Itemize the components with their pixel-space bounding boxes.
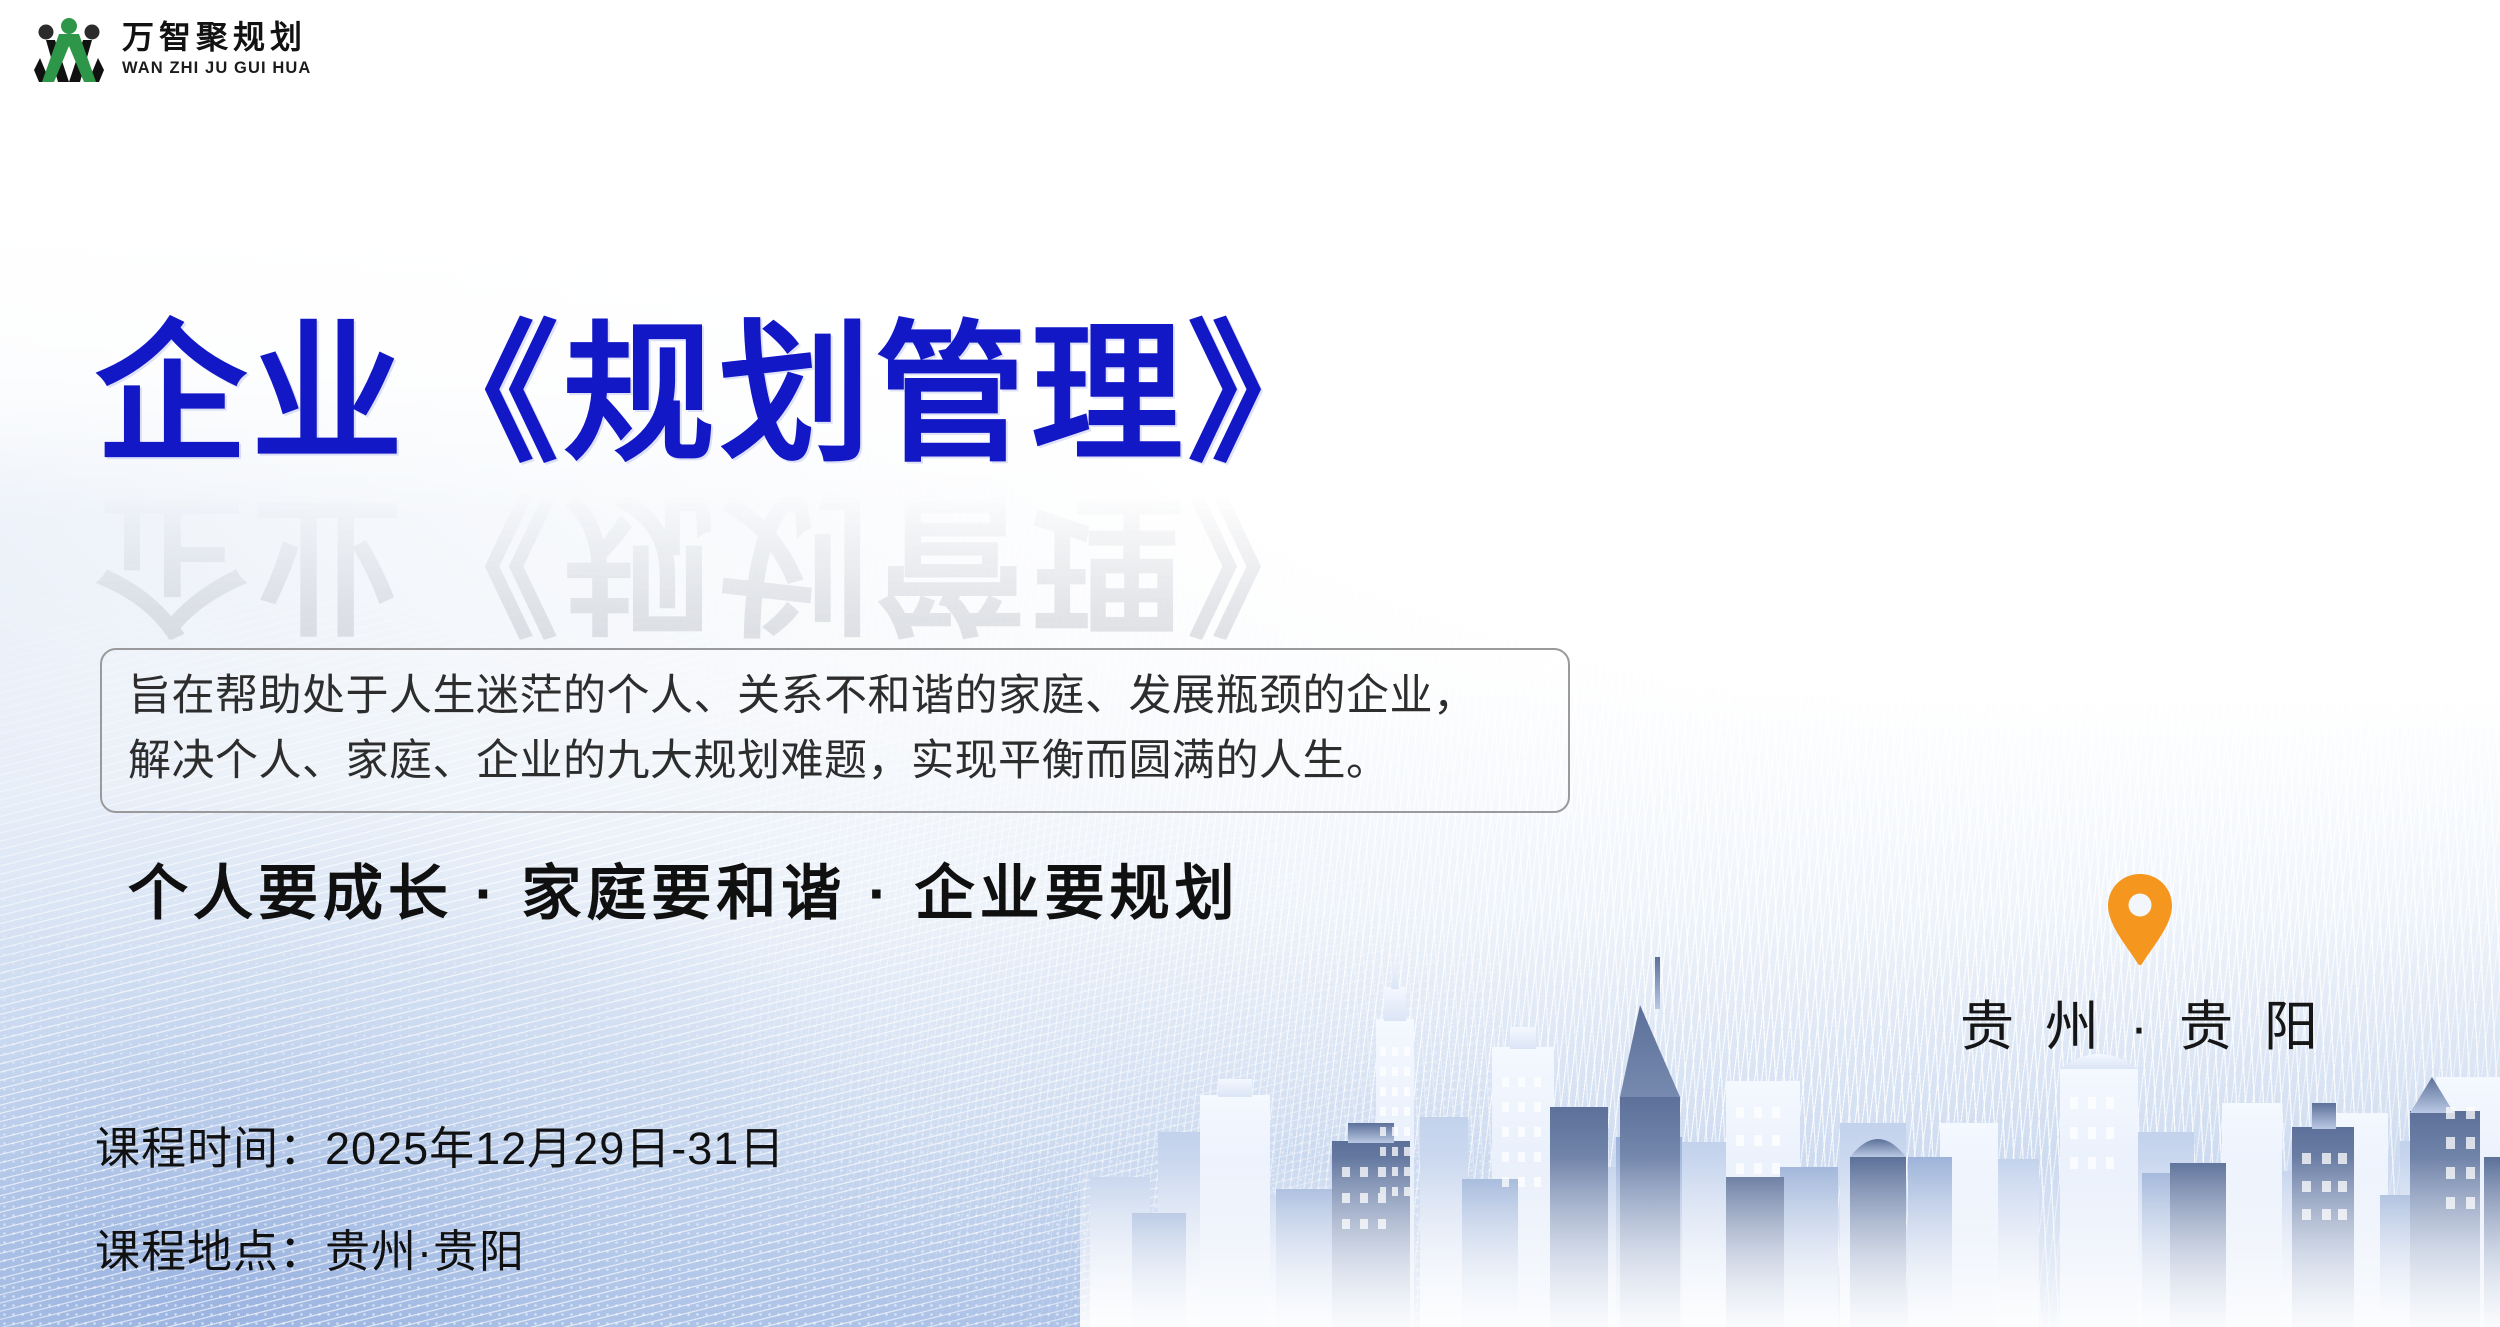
course-time-line: 课程时间：2025年12月29日-31日 bbox=[95, 1112, 785, 1177]
skyline-haze bbox=[1080, 1157, 2500, 1327]
page-title: 企业《规划管理》 企业《规划管理》 bbox=[95, 316, 1655, 639]
three-people-logo-icon bbox=[30, 14, 108, 84]
brand-name-en: WAN ZHI JU GUI HUA bbox=[122, 60, 311, 77]
location-block: 贵 州 · 贵 阳 bbox=[1960, 872, 2320, 1061]
description-line-2: 解决个人、家庭、企业的九大规划难题，实现平衡而圆满的人生。 bbox=[128, 729, 1542, 794]
location-name: 贵 州 · 贵 阳 bbox=[1960, 982, 2320, 1061]
title-reflection-text: 企业《规划管理》 bbox=[95, 480, 1655, 640]
title-main-text: 企业《规划管理》 bbox=[95, 316, 1655, 476]
brand-name-cn: 万智聚规划 bbox=[122, 21, 311, 53]
course-info-block: 课程时间：2025年12月29日-31日 课程地点：贵州·贵阳 bbox=[95, 1112, 785, 1280]
description-box: 旨在帮助处于人生迷茫的个人、关系不和谐的家庭、发展瓶颈的企业， 解决个人、家庭、… bbox=[100, 648, 1570, 813]
brand-logo[interactable]: 万智聚规划 WAN ZHI JU GUI HUA bbox=[30, 14, 311, 84]
map-pin-icon bbox=[2104, 872, 2176, 968]
slogan-text: 个人要成长 · 家庭要和谐 · 企业要规划 bbox=[128, 845, 1240, 932]
brand-logo-text: 万智聚规划 WAN ZHI JU GUI HUA bbox=[122, 21, 311, 77]
poster-canvas: 万智聚规划 WAN ZHI JU GUI HUA 企业《规划管理》 企业《规划管… bbox=[0, 0, 2500, 1327]
course-place-line: 课程地点：贵州·贵阳 bbox=[95, 1215, 785, 1280]
description-line-1: 旨在帮助处于人生迷茫的个人、关系不和谐的家庭、发展瓶颈的企业， bbox=[128, 664, 1542, 729]
